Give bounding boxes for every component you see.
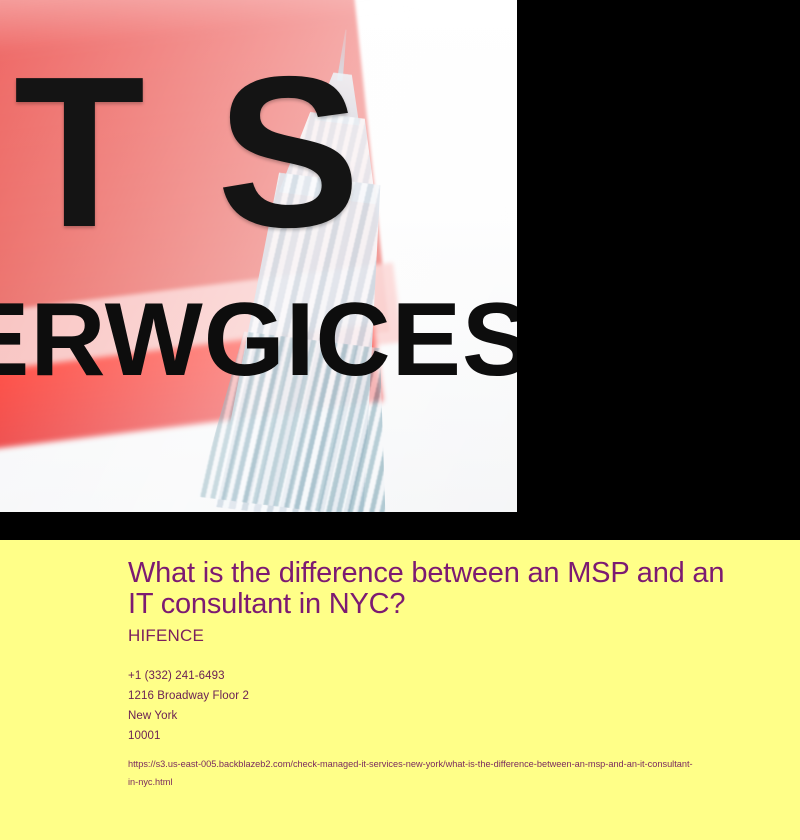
contact-city: New York [128,707,800,727]
hero-image: IT S ERWGICES [0,0,517,512]
source-url[interactable]: https://s3.us-east-005.backblazeb2.com/c… [128,755,800,792]
content-panel-inner: What is the difference between an MSP an… [128,558,800,791]
source-url-line-1[interactable]: https://s3.us-east-005.backblazeb2.com/c… [128,755,800,773]
brand-name: HIFENCE [128,626,800,646]
contact-block: +1 (332) 241-6493 1216 Broadway Floor 2 … [128,667,800,747]
contact-phone: +1 (332) 241-6493 [128,667,800,687]
page-root: IT S ERWGICES What is the difference bet… [0,0,800,840]
hero-banner: IT S ERWGICES [0,0,800,540]
contact-street: 1216 Broadway Floor 2 [128,687,800,707]
contact-postal-code: 10001 [128,727,800,747]
content-panel: What is the difference between an MSP an… [0,540,800,840]
tower-lower-facade [197,328,406,512]
page-title: What is the difference between an MSP an… [128,558,728,620]
source-url-line-2[interactable]: in-nyc.html [128,773,800,791]
